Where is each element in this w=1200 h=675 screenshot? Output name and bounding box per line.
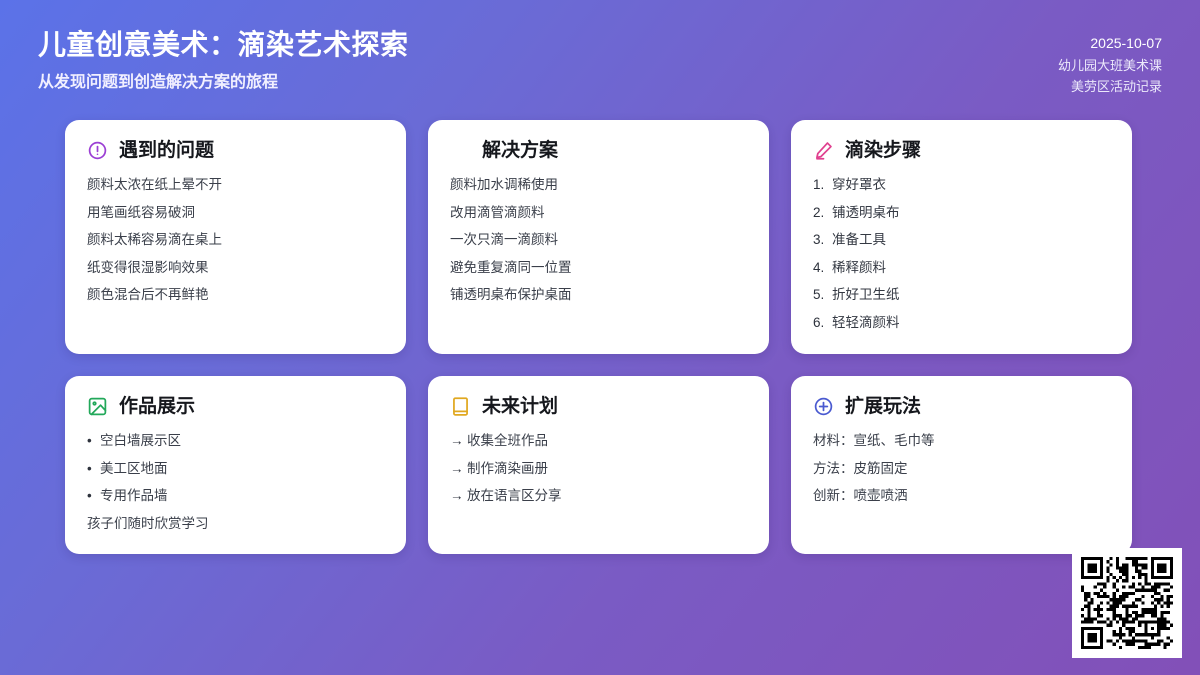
page-title: 儿童创意美术：滴染艺术探索 (38, 26, 409, 64)
header-meta-line-1: 幼儿园大班美术课 (1058, 55, 1162, 76)
header-meta-block: 2025-10-07 幼儿园大班美术课 美劳区活动记录 (1058, 32, 1162, 97)
list-item: 用笔画纸容易破洞 (87, 206, 384, 220)
card-title: 滴染步骤 (845, 141, 921, 160)
header-meta-line-2: 美劳区活动记录 (1058, 76, 1162, 97)
list-marker: → (450, 434, 467, 448)
card-body: 1.穿好罩衣 2.铺透明桌布 3.准备工具 4.稀释颜料 5.折好卫生纸 6.轻… (813, 178, 1110, 329)
list-item: 颜色混合后不再鲜艳 (87, 288, 384, 302)
list-item: 纸变得很湿影响效果 (87, 261, 384, 275)
page-header: 儿童创意美术：滴染艺术探索 从发现问题到创造解决方案的旅程 2025-10-07… (0, 0, 1200, 118)
list-item-label: 轻轻滴颜料 (832, 315, 900, 330)
card-header: 遇到的问题 (87, 140, 384, 161)
list-item-label: 制作滴染画册 (467, 461, 548, 476)
list-item-label: 折好卫生纸 (832, 287, 900, 302)
card-grid: 遇到的问题 颜料太浓在纸上晕不开 用笔画纸容易破洞 颜料太稀容易滴在桌上 纸变得… (65, 120, 1135, 554)
list-item: 方法：皮筋固定 (813, 462, 1110, 476)
list-item: 5.折好卫生纸 (813, 288, 1110, 302)
card-solutions: 解决方案 颜料加水调稀使用 改用滴管滴颜料 一次只滴一滴颜料 避免重复滴同一位置… (428, 120, 769, 354)
list-item-label: 铺透明桌布 (832, 205, 900, 220)
qr-code-image (1081, 557, 1173, 649)
list-item: →制作滴染画册 (450, 462, 747, 476)
list-item-label: 收集全班作品 (467, 433, 548, 448)
list-item-label: 准备工具 (832, 232, 886, 247)
list-item: 1.穿好罩衣 (813, 178, 1110, 192)
card-title: 扩展玩法 (845, 397, 921, 416)
card-body: •空白墙展示区 •美工区地面 •专用作品墙 孩子们随时欣赏学习 (87, 434, 384, 530)
list-item-label: 穿好罩衣 (832, 177, 886, 192)
list-marker: 1. (813, 178, 832, 192)
card-header: 作品展示 (87, 396, 384, 417)
blank-icon (450, 140, 471, 161)
card-body: →收集全班作品 →制作滴染画册 →放在语言区分享 (450, 434, 747, 503)
list-marker: • (87, 489, 100, 503)
card-body: 颜料太浓在纸上晕不开 用笔画纸容易破洞 颜料太稀容易滴在桌上 纸变得很湿影响效果… (87, 178, 384, 302)
card-header: 解决方案 (450, 140, 747, 161)
card-future-plan: 未来计划 →收集全班作品 →制作滴染画册 →放在语言区分享 (428, 376, 769, 554)
list-item: 颜料太稀容易滴在桌上 (87, 233, 384, 247)
card-body: 材料：宣纸、毛巾等 方法：皮筋固定 创新：喷壶喷洒 (813, 434, 1110, 503)
list-item: 4.稀释颜料 (813, 261, 1110, 275)
list-item-label: 专用作品墙 (100, 488, 168, 503)
list-item: 颜料太浓在纸上晕不开 (87, 178, 384, 192)
card-steps: 滴染步骤 1.穿好罩衣 2.铺透明桌布 3.准备工具 4.稀释颜料 5.折好卫生… (791, 120, 1132, 354)
list-marker: 5. (813, 288, 832, 302)
list-item-label: 空白墙展示区 (100, 433, 181, 448)
list-item: 2.铺透明桌布 (813, 206, 1110, 220)
book-icon (450, 396, 471, 417)
card-header: 扩展玩法 (813, 396, 1110, 417)
image-icon (87, 396, 108, 417)
list-item: 颜料加水调稀使用 (450, 178, 747, 192)
list-item: •专用作品墙 (87, 489, 384, 503)
list-item: 创新：喷壶喷洒 (813, 489, 1110, 503)
list-item: 材料：宣纸、毛巾等 (813, 434, 1110, 448)
list-item: 铺透明桌布保护桌面 (450, 288, 747, 302)
list-item-label: 稀释颜料 (832, 260, 886, 275)
card-header: 未来计划 (450, 396, 747, 417)
list-item: •空白墙展示区 (87, 434, 384, 448)
card-title: 作品展示 (119, 397, 195, 416)
card-title: 解决方案 (482, 141, 558, 160)
list-marker: → (450, 489, 467, 503)
list-item: 3.准备工具 (813, 233, 1110, 247)
list-item: •美工区地面 (87, 462, 384, 476)
list-item-label: 放在语言区分享 (467, 488, 562, 503)
card-extensions: 扩展玩法 材料：宣纸、毛巾等 方法：皮筋固定 创新：喷壶喷洒 (791, 376, 1132, 554)
card-note: 孩子们随时欣赏学习 (87, 517, 384, 531)
list-item: 改用滴管滴颜料 (450, 206, 747, 220)
list-marker: 4. (813, 261, 832, 275)
list-item: 避免重复滴同一位置 (450, 261, 747, 275)
list-item: →收集全班作品 (450, 434, 747, 448)
card-gallery: 作品展示 •空白墙展示区 •美工区地面 •专用作品墙 孩子们随时欣赏学习 (65, 376, 406, 554)
header-date: 2025-10-07 (1058, 32, 1162, 55)
list-marker: → (450, 462, 467, 476)
card-title: 未来计划 (482, 397, 558, 416)
list-marker: • (87, 462, 100, 476)
qr-code[interactable] (1072, 548, 1182, 658)
list-item: 一次只滴一滴颜料 (450, 233, 747, 247)
card-problems: 遇到的问题 颜料太浓在纸上晕不开 用笔画纸容易破洞 颜料太稀容易滴在桌上 纸变得… (65, 120, 406, 354)
list-marker: 3. (813, 233, 832, 247)
card-header: 滴染步骤 (813, 140, 1110, 161)
header-title-block: 儿童创意美术：滴染艺术探索 从发现问题到创造解决方案的旅程 (38, 26, 409, 94)
card-body: 颜料加水调稀使用 改用滴管滴颜料 一次只滴一滴颜料 避免重复滴同一位置 铺透明桌… (450, 178, 747, 302)
page-subtitle: 从发现问题到创造解决方案的旅程 (38, 72, 409, 94)
list-marker: 6. (813, 316, 832, 330)
plus-circle-icon (813, 396, 834, 417)
list-item: 6.轻轻滴颜料 (813, 316, 1110, 330)
list-marker: 2. (813, 206, 832, 220)
list-item-label: 美工区地面 (100, 461, 168, 476)
list-marker: • (87, 434, 100, 448)
pencil-icon (813, 140, 834, 161)
card-title: 遇到的问题 (119, 141, 214, 160)
list-item: →放在语言区分享 (450, 489, 747, 503)
alert-circle-icon (87, 140, 108, 161)
